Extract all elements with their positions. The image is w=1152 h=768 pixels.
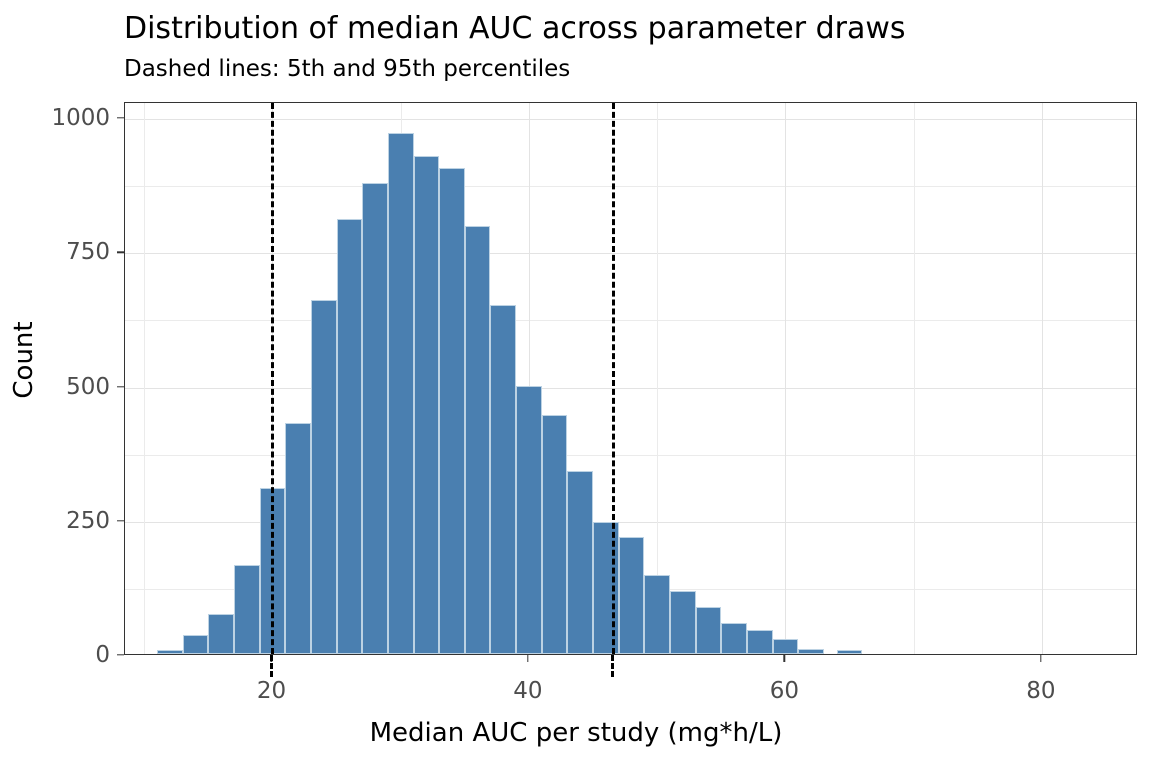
histogram-bar	[644, 575, 670, 654]
histogram-bar	[516, 386, 542, 654]
gridline-horizontal-minor	[125, 455, 1136, 456]
chart-figure: Distribution of median AUC across parame…	[0, 0, 1152, 768]
histogram-bar	[490, 305, 516, 654]
histogram-bar	[747, 630, 773, 654]
gridline-horizontal-minor	[125, 320, 1136, 321]
gridline-horizontal-major	[125, 119, 1136, 120]
x-tick-label: 40	[513, 678, 542, 704]
gridline-vertical-minor	[657, 103, 658, 654]
p95-line-extension	[611, 655, 614, 677]
gridline-horizontal-major	[125, 253, 1136, 254]
histogram-bar	[542, 415, 568, 654]
histogram-bar	[773, 639, 799, 654]
gridline-vertical-minor	[144, 103, 145, 654]
histogram-bar	[439, 168, 465, 654]
histogram-bar	[837, 650, 863, 654]
y-tick-label: 750	[66, 239, 110, 265]
y-tick-label: 0	[95, 642, 110, 668]
histogram-bar	[798, 649, 824, 654]
histogram-bar	[234, 565, 260, 654]
histogram-bar	[183, 635, 209, 654]
gridline-horizontal-major	[125, 388, 1136, 389]
histogram-bar	[285, 423, 311, 654]
y-axis-title: Count	[9, 170, 39, 550]
y-tick-label: 1000	[51, 105, 110, 131]
histogram-bar	[567, 471, 593, 654]
gridline-vertical-major	[1042, 103, 1043, 654]
histogram-bar	[696, 607, 722, 654]
x-tick-mark	[1040, 655, 1041, 662]
y-tick-mark	[117, 117, 124, 118]
y-tick-mark	[117, 654, 124, 655]
histogram-bar	[619, 537, 645, 654]
histogram-bar	[414, 156, 440, 654]
p5-line-extension	[270, 655, 273, 677]
histogram-bar	[157, 650, 183, 654]
y-tick-label: 250	[66, 508, 110, 534]
y-tick-label: 500	[66, 374, 110, 400]
histogram-bar	[311, 300, 337, 654]
x-axis-title: Median AUC per study (mg*h/L)	[0, 718, 1152, 748]
histogram-bar	[670, 591, 696, 654]
histogram-bar	[208, 614, 234, 654]
y-tick-mark	[117, 252, 124, 253]
p5-line	[271, 103, 274, 654]
gridline-vertical-minor	[914, 103, 915, 654]
x-tick-label: 20	[257, 678, 286, 704]
histogram-bar	[465, 226, 491, 654]
histogram-bar	[721, 623, 747, 654]
p95-line	[612, 103, 615, 654]
y-tick-mark	[117, 520, 124, 521]
x-tick-label: 80	[1026, 678, 1055, 704]
gridline-vertical-major	[785, 103, 786, 654]
histogram-bar	[362, 183, 388, 654]
histogram-bar	[337, 219, 363, 654]
x-tick-mark	[784, 655, 785, 662]
x-tick-label: 60	[770, 678, 799, 704]
chart-subtitle: Dashed lines: 5th and 95th percentiles	[124, 56, 570, 83]
plot-panel	[124, 102, 1137, 655]
chart-title: Distribution of median AUC across parame…	[124, 12, 906, 46]
gridline-horizontal-minor	[125, 186, 1136, 187]
y-tick-mark	[117, 386, 124, 387]
histogram-bar	[388, 133, 414, 654]
x-tick-mark	[527, 655, 528, 662]
